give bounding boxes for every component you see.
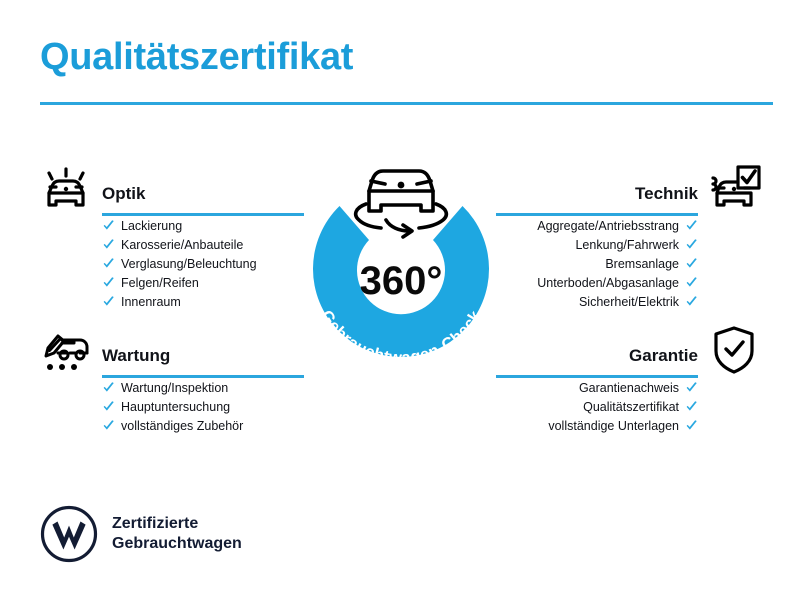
section-wartung-titlewrap: Wartung xyxy=(96,322,310,378)
list-item-label: Felgen/Reifen xyxy=(121,276,199,290)
section-technik-title: Technik xyxy=(490,184,704,204)
list-item-label: Sicherheit/Elektrik xyxy=(579,295,679,309)
car-rotate-icon xyxy=(356,171,447,237)
title-divider xyxy=(40,102,773,105)
car-service-icon xyxy=(36,322,96,378)
section-technik-underline xyxy=(496,213,698,216)
list-item: Lenkung/Fahrwerk xyxy=(490,235,698,254)
vw-logo xyxy=(40,505,98,563)
list-item-label: Karosserie/Anbauteile xyxy=(121,238,243,252)
list-item-label: Verglasung/Beleuchtung xyxy=(121,257,257,271)
section-technik: Technik Aggregate/Antriebsstrang Lenkung… xyxy=(490,160,764,311)
check-icon xyxy=(102,257,115,270)
list-item: Wartung/Inspektion xyxy=(102,378,370,397)
section-optik-titlewrap: Optik xyxy=(96,160,310,216)
section-optik-title: Optik xyxy=(96,184,310,204)
list-item-label: Qualitätszertifikat xyxy=(583,400,679,414)
section-garantie-titlewrap: Garantie xyxy=(490,322,704,378)
qualitaetszertifikat-page: Qualitätszertifikat Optik Lackier xyxy=(0,0,800,600)
check-icon xyxy=(102,419,115,432)
section-garantie-underline xyxy=(496,375,698,378)
section-technik-list: Aggregate/Antriebsstrang Lenkung/Fahrwer… xyxy=(490,216,764,311)
check-icon xyxy=(102,238,115,251)
car-checkbox-icon xyxy=(704,160,764,216)
section-optik-underline xyxy=(102,213,304,216)
section-garantie-list: Garantienachweis Qualitätszertifikat vol… xyxy=(490,378,764,435)
shield-check-icon xyxy=(704,322,764,378)
list-item: Bremsanlage xyxy=(490,254,698,273)
list-item-label: vollständiges Zubehör xyxy=(121,419,243,433)
check-icon xyxy=(685,295,698,308)
section-technik-header: Technik xyxy=(490,160,764,216)
list-item-label: vollständige Unterlagen xyxy=(548,419,679,433)
list-item: Sicherheit/Elektrik xyxy=(490,292,698,311)
section-technik-titlewrap: Technik xyxy=(490,160,704,216)
check-icon xyxy=(685,276,698,289)
list-item-label: Lackierung xyxy=(121,219,182,233)
check-icon xyxy=(685,381,698,394)
footer-line-2: Gebrauchtwagen xyxy=(112,534,242,554)
section-wartung-underline xyxy=(102,375,304,378)
list-item: Hauptuntersuchung xyxy=(102,397,370,416)
check-icon xyxy=(102,295,115,308)
list-item: vollständige Unterlagen xyxy=(490,416,698,435)
list-item-label: Hauptuntersuchung xyxy=(121,400,230,414)
check-icon xyxy=(102,276,115,289)
footer-logo: Zertifizierte Gebrauchtwagen xyxy=(40,505,242,563)
360-check-badge: 360° Gebrauchtwagen-Check xyxy=(293,148,509,380)
page-title: Qualitätszertifikat xyxy=(40,36,353,79)
badge-value: 360° xyxy=(360,259,443,303)
list-item-label: Bremsanlage xyxy=(605,257,679,271)
section-garantie-header: Garantie xyxy=(490,322,764,378)
list-item-label: Aggregate/Antriebsstrang xyxy=(537,219,679,233)
list-item: Aggregate/Antriebsstrang xyxy=(490,216,698,235)
check-icon xyxy=(685,219,698,232)
footer-line-1: Zertifizierte xyxy=(112,514,242,534)
list-item: Garantienachweis xyxy=(490,378,698,397)
list-item-label: Innenraum xyxy=(121,295,181,309)
section-garantie: Garantie Garantienachweis Qualitätszerti… xyxy=(490,322,764,435)
list-item: Qualitätszertifikat xyxy=(490,397,698,416)
footer-text: Zertifizierte Gebrauchtwagen xyxy=(112,514,242,554)
list-item-label: Garantienachweis xyxy=(579,381,679,395)
list-item: Unterboden/Abgasanlage xyxy=(490,273,698,292)
list-item-label: Unterboden/Abgasanlage xyxy=(537,276,679,290)
check-icon xyxy=(102,381,115,394)
check-icon xyxy=(685,238,698,251)
check-icon xyxy=(685,257,698,270)
check-icon xyxy=(102,219,115,232)
list-item-label: Wartung/Inspektion xyxy=(121,381,228,395)
section-garantie-title: Garantie xyxy=(490,346,704,366)
list-item: vollständiges Zubehör xyxy=(102,416,370,435)
check-icon xyxy=(102,400,115,413)
check-icon xyxy=(685,400,698,413)
car-headlights-icon xyxy=(36,160,96,216)
check-icon xyxy=(685,419,698,432)
section-wartung-title: Wartung xyxy=(96,346,310,366)
section-wartung-list: Wartung/Inspektion Hauptuntersuchung vol… xyxy=(96,378,370,435)
list-item-label: Lenkung/Fahrwerk xyxy=(575,238,679,252)
